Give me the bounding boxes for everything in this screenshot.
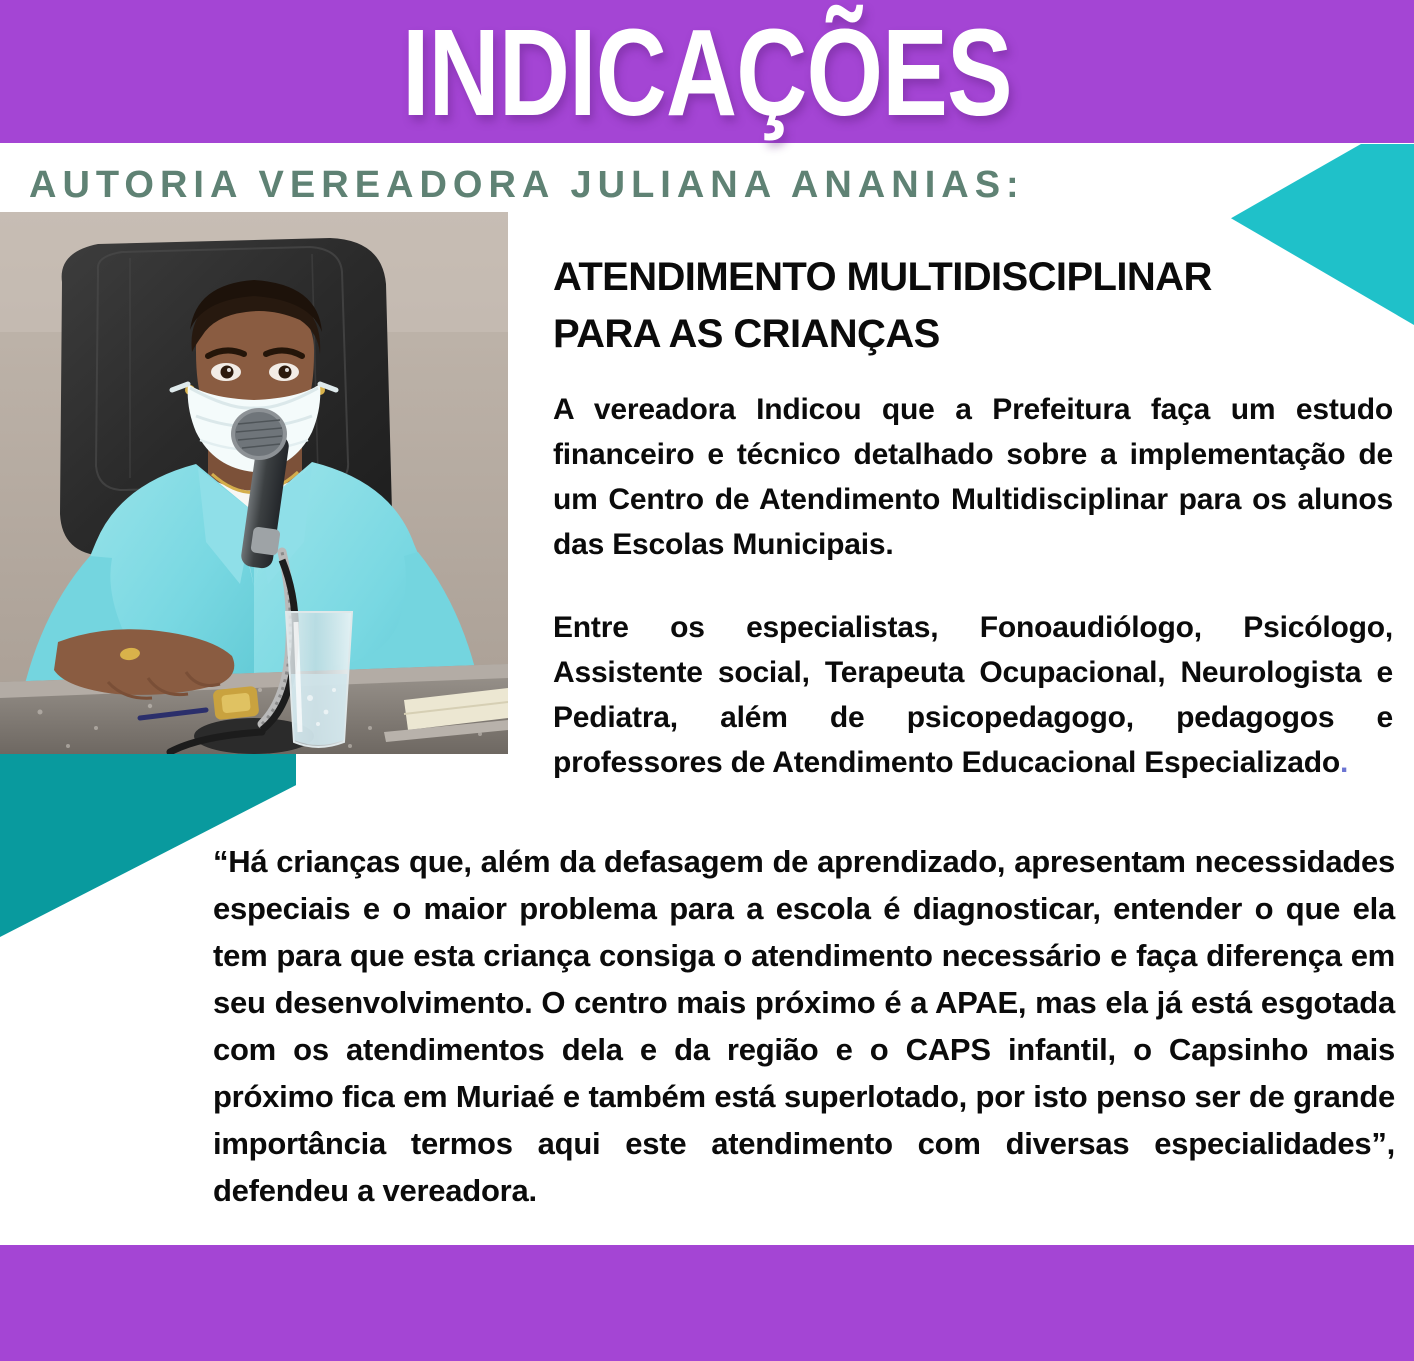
article-body: A vereadora Indicou que a Prefeitura faç… (553, 387, 1393, 785)
article-heading: ATENDIMENTO MULTIDISCIPLINAR PARA AS CRI… (553, 249, 1393, 363)
article-paragraph-2: Entre os especialistas, Fonoaudiólogo, P… (553, 605, 1393, 785)
councilwoman-photo (0, 212, 508, 754)
bottom-purple-band (0, 1245, 1414, 1361)
article-paragraph-2-text: Entre os especialistas, Fonoaudiólogo, P… (553, 611, 1393, 779)
pull-quote: “Há crianças que, além da defasagem de a… (213, 838, 1395, 1214)
photo-illustration (0, 212, 508, 754)
accent-period: . (1340, 746, 1348, 779)
pull-quote-text: “Há crianças que, além da defasagem de a… (213, 838, 1395, 1214)
article-paragraph-1: A vereadora Indicou que a Prefeitura faç… (553, 387, 1393, 567)
authorship-line: AUTORIA VEREADORA JULIANA ANANIAS: (29, 163, 1025, 207)
article-heading-line-2: PARA AS CRIANÇAS (553, 306, 1393, 363)
page-title: INDICAÇÕES (141, 8, 1272, 140)
poster-root: INDICAÇÕES AUTORIA VEREADORA JULIANA ANA… (0, 0, 1414, 1361)
article-heading-line-1: ATENDIMENTO MULTIDISCIPLINAR (553, 249, 1393, 306)
